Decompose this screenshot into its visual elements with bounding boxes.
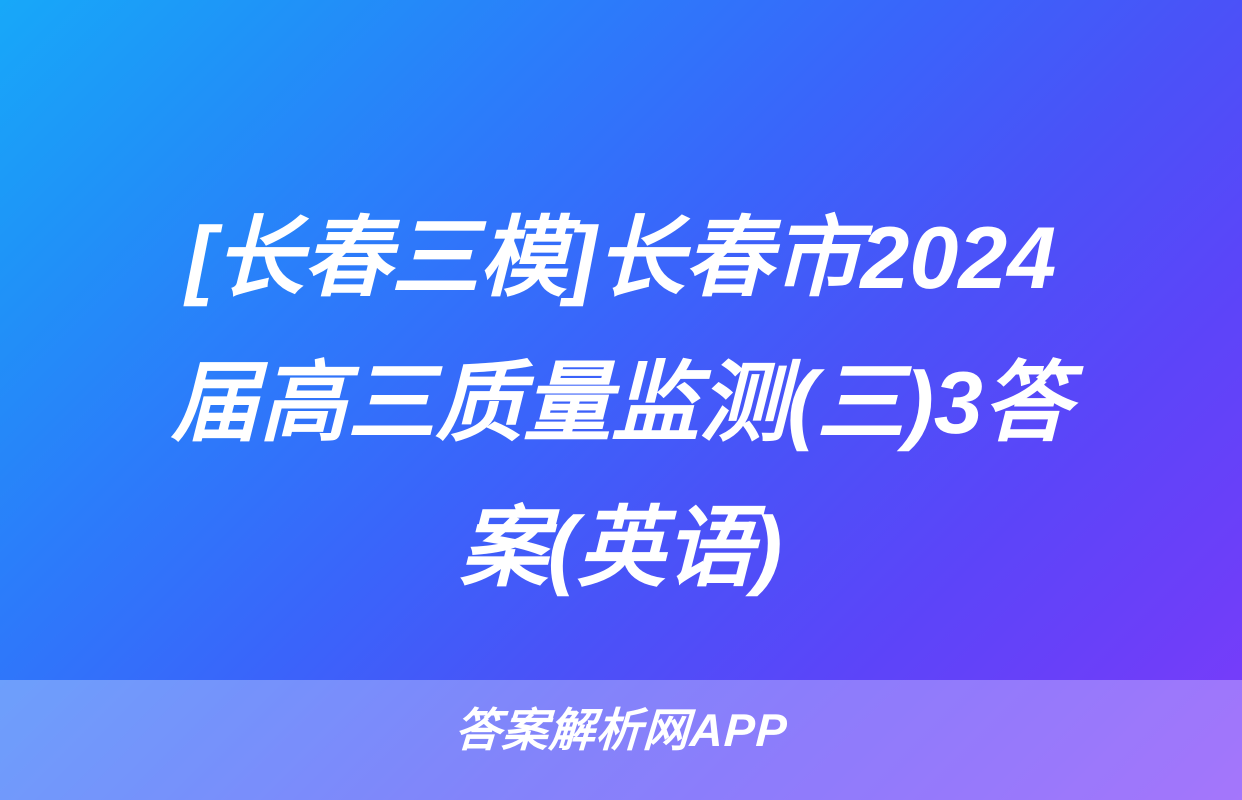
watermark-label: 答案解析网APP xyxy=(453,702,789,758)
title-line-2: 届高三质量监测(三)3答 xyxy=(46,330,1196,475)
title-line-3: 案(英语) xyxy=(46,475,1196,620)
title-line-1: [长春三模]长春市2024 xyxy=(46,185,1196,330)
watermark: 答案解析网APP xyxy=(0,702,1242,758)
page-title: [长春三模]长春市2024 届高三质量监测(三)3答 案(英语) xyxy=(0,185,1242,620)
exam-cover-card: [长春三模]长春市2024 届高三质量监测(三)3答 案(英语) 答案解析网AP… xyxy=(0,0,1242,800)
